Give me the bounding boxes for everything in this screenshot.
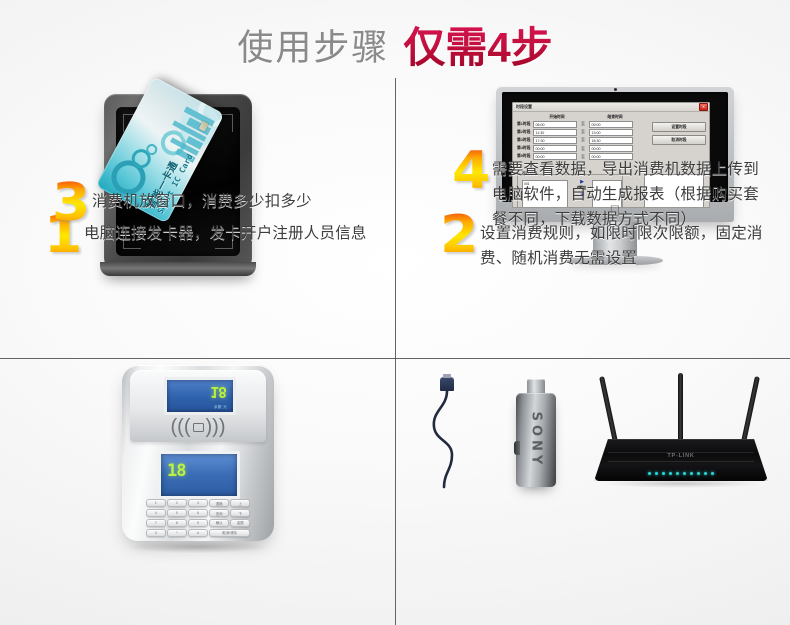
end-time-input[interactable]: 18:30 (589, 137, 633, 144)
router-ridge (608, 461, 754, 462)
close-icon[interactable]: ✕ (699, 103, 708, 111)
keypad-key[interactable]: 退格 (209, 499, 229, 507)
imac-camera-icon (614, 88, 617, 91)
keypad-key[interactable]: 3 (188, 499, 208, 507)
keypad-key[interactable]: 查询 (209, 509, 229, 517)
usb-cable (428, 377, 478, 489)
keypad-key[interactable]: 金额 (230, 519, 250, 527)
start-time-input[interactable]: 11:30 (533, 129, 577, 136)
page-title: 使用步骤仅需4步 (0, 14, 790, 75)
period-label: 第1时段 (517, 122, 533, 127)
machine-upper-housing: 18 余额 元 ((( ))) (130, 370, 266, 442)
keypad-key[interactable]: 5 (167, 509, 187, 517)
led-icon (683, 472, 686, 475)
wireless-router: TP-LINK (590, 373, 772, 493)
step-4-panel: SONY TP-LINK (396, 359, 790, 625)
led-icon (711, 472, 714, 475)
start-time-input[interactable]: 17:30 (533, 137, 577, 144)
usb-flash-drive: SONY (514, 379, 558, 487)
router-brand: TP-LINK (667, 453, 694, 459)
router-led-indicators (648, 472, 714, 475)
led-icon (662, 472, 665, 475)
dialog-titlebar: 时段设置 ✕ (513, 103, 709, 112)
machine-shadow (128, 541, 268, 553)
keypad-key[interactable]: 0 (146, 529, 166, 537)
rfid-wave-icon: ((( ))) (130, 414, 266, 440)
step-3-panel: 18 余额 元 ((( ))) 18 1 2 3 退格 (0, 359, 395, 625)
dialog-action-buttons: 设置时段 取消时段 (652, 122, 704, 148)
flash-drive-body: SONY (516, 393, 556, 487)
usb-plug-icon (440, 377, 454, 391)
router-shadow (600, 479, 762, 488)
operator-display: 18 (158, 451, 240, 499)
led-icon (690, 472, 693, 475)
keypad-key[interactable]: # (188, 529, 208, 537)
cancel-period-button[interactable]: 取消时段 (652, 135, 706, 145)
keypad-key[interactable]: 1 (146, 499, 166, 507)
card-reader-base (100, 262, 256, 276)
router-antenna (740, 376, 760, 447)
numeric-keypad: 1 2 3 退格 上 4 5 6 查询 下 7 8 9 确认 金额 0 * (146, 499, 250, 537)
step-4-caption: 4 需要查看数据，导出消费机数据上传到电脑软件，自动生成报表（根据购买套餐不同，… (452, 148, 772, 232)
led-icon (697, 472, 700, 475)
router-body: TP-LINK (594, 439, 768, 481)
keypad-key-cancel[interactable]: 取消/清除 (209, 529, 250, 537)
end-time-input[interactable]: 13:00 (589, 129, 633, 136)
step-3-caption: 3 消费机放窗口，消费多少扣多少 (52, 180, 382, 226)
keypad-key[interactable]: 上 (230, 499, 250, 507)
keypad-key[interactable]: 4 (146, 509, 166, 517)
customer-display-sub: 余额 元 (214, 405, 227, 410)
end-time-input[interactable]: 09:00 (589, 121, 633, 128)
led-icon (704, 472, 707, 475)
step-text-3: 消费机放窗口，消费多少扣多少 (92, 180, 312, 214)
column-header-end: 结束时间 (592, 115, 638, 120)
flash-drive-brand: SONY (529, 412, 544, 469)
page-title-red: 仅需4步 (403, 24, 552, 71)
keypad-key[interactable]: 8 (167, 519, 187, 527)
start-time-input[interactable]: 06:00 (533, 121, 577, 128)
period-label: 第2时段 (517, 130, 533, 135)
dialog-title: 时段设置 (516, 104, 532, 110)
time-separator-label: 至 (577, 121, 589, 127)
keypad-key[interactable]: 7 (146, 519, 166, 527)
led-icon (676, 472, 679, 475)
time-separator-label: 至 (577, 137, 589, 143)
router-antenna (678, 373, 683, 449)
step-number-4: 4 (452, 148, 494, 194)
keypad-key[interactable]: 9 (188, 519, 208, 527)
usb-cable-wire (428, 377, 478, 489)
rfid-card-icon (193, 423, 204, 432)
keypad-key[interactable]: 确认 (209, 519, 229, 527)
keypad-key[interactable]: 2 (167, 499, 187, 507)
led-icon (655, 472, 658, 475)
data-transfer-devices: SONY TP-LINK (406, 369, 780, 497)
page-title-gray: 使用步骤 (237, 27, 389, 68)
step-text-4: 需要查看数据，导出消费机数据上传到电脑软件，自动生成报表（根据购买套餐不同，下载… (492, 148, 772, 232)
keypad-key[interactable]: * (167, 529, 187, 537)
time-separator-label: 至 (577, 129, 589, 135)
operator-display-value: 18 (167, 461, 185, 481)
dialog-column-headers: 开始时间 结束时间 (517, 115, 705, 120)
led-icon (669, 472, 672, 475)
customer-display-value: 18 (210, 383, 226, 401)
step-number-3: 3 (52, 180, 94, 226)
column-header-start: 开始时间 (534, 115, 580, 120)
consumption-machine: 18 余额 元 ((( ))) 18 1 2 3 退格 (122, 365, 274, 541)
keypad-key[interactable]: 6 (188, 509, 208, 517)
keypad-key[interactable]: 下 (230, 509, 250, 517)
period-label: 第3时段 (517, 138, 533, 143)
flash-drive-clip (514, 441, 520, 455)
set-period-button[interactable]: 设置时段 (652, 122, 706, 132)
led-icon (648, 472, 651, 475)
page-root: 使用步骤仅需4步 (0, 0, 790, 625)
customer-display: 18 余额 元 (164, 377, 236, 415)
router-antenna (599, 376, 619, 447)
